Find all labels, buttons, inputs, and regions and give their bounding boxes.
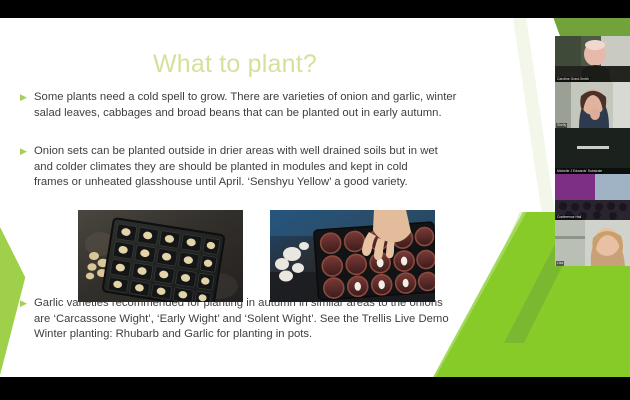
presentation-slide: What to plant? ▶ Some plants need a cold…	[0, 18, 630, 377]
video-tile-5-name: Lisa	[556, 261, 564, 266]
photo-onion-sets-graphic	[78, 210, 243, 302]
video-tile-participant-3[interactable]: Michelle J Edwards' Substrate	[555, 128, 630, 174]
video-tile-participant-4[interactable]: Conference Hall	[555, 174, 630, 220]
video-player-stage: What to plant? ▶ Some plants need a cold…	[0, 0, 630, 400]
slide-title: What to plant?	[0, 50, 470, 79]
letterbox-bottom-bar	[0, 377, 630, 400]
video-tile-4-feed	[555, 174, 630, 220]
photo-garlic-modules-graphic	[270, 210, 435, 302]
bullet-text: Onion sets can be planted outside in dri…	[34, 144, 440, 191]
video-participant-panel[interactable]: Caroline Grant-Smith Shelly	[555, 36, 630, 266]
video-tile-participant-5[interactable]: Lisa	[555, 220, 630, 266]
decor-green-pale-top-right	[463, 18, 558, 234]
video-tile-participant-2[interactable]: Shelly	[555, 82, 630, 128]
video-tile-2-feed	[555, 82, 630, 128]
video-tile-3-feed	[555, 128, 630, 174]
video-tile-1-feed	[555, 36, 630, 82]
letterbox-top-bar	[0, 0, 630, 18]
bullet-text: Garlic varieties recommended for plantin…	[34, 296, 460, 343]
bullet-marker-icon: ▶	[20, 144, 34, 156]
photo-garlic-modules	[270, 210, 435, 302]
bullet-marker-icon: ▶	[20, 90, 34, 102]
bullet-item-cold-spell: ▶ Some plants need a cold spell to grow.…	[20, 90, 460, 121]
bullet-item-onion-sets: ▶ Onion sets can be planted outside in d…	[20, 144, 440, 191]
bullet-item-garlic-varieties: ▶ Garlic varieties recommended for plant…	[20, 296, 460, 343]
bullet-text: Some plants need a cold spell to grow. T…	[34, 90, 460, 121]
bullet-marker-icon: ▶	[20, 296, 34, 308]
video-tile-5-feed	[555, 220, 630, 266]
photo-onion-sets	[78, 210, 243, 302]
video-tile-participant-1[interactable]: Caroline Grant-Smith	[555, 36, 630, 82]
decor-green-mid-bottom-right	[422, 212, 562, 377]
